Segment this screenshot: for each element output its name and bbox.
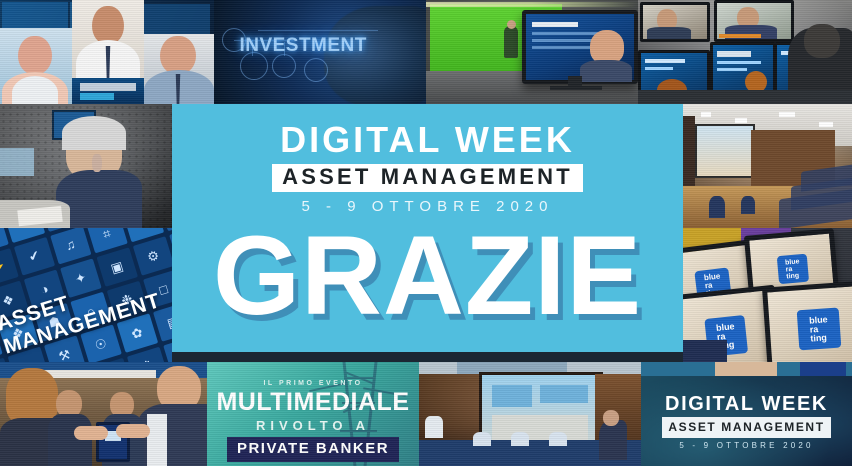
tile-overlay-lower-third	[72, 78, 144, 104]
collage-canvas: Three-person video conference grid with …	[0, 0, 852, 466]
tile-asset-management-icons: ■▲●✉⚙☁★◆⚡✔♫⌗⚐⌘✂❖◑✦▣⚙▶✻❖☗○❉□✵✠◉⚒☉✿▤❀■▲●✉⚙…	[0, 228, 172, 362]
tile-auditorium	[683, 104, 852, 228]
tile-video-call-grid: Three-person video conference grid with …	[0, 0, 214, 104]
event-logo-lockup: DIGITAL WEEK ASSET MANAGEMENT 5 - 9 OTTO…	[172, 122, 683, 214]
tile-studio-speaker	[0, 104, 172, 228]
overlay-line-private-banker: PRIVATE BANKER	[237, 440, 389, 457]
tile-award-ceremony	[0, 362, 207, 466]
logo-line-dates: 5 - 9 OTTOBRE 2020	[172, 199, 683, 214]
overlay-line-rivolto-a: RIVOLTO A	[207, 419, 419, 432]
tile-green-screen-studio	[426, 0, 638, 104]
tile-multimediale-promo: IL PRIMO EVENTO MULTIMEDIALE RIVOLTO A P…	[207, 362, 419, 466]
tile-digital-week-dark: DIGITAL WEEK ASSET MANAGEMENT 5 - 9 OTTO…	[641, 362, 852, 466]
asset-icon-cell: ✔	[14, 237, 55, 276]
overlay-line-primo-evento: IL PRIMO EVENTO	[207, 380, 419, 387]
tile-control-room	[638, 0, 852, 104]
logo-line-digital-week: DIGITAL WEEK	[172, 122, 683, 158]
dark-tile-logo-line2: ASSET MANAGEMENT	[668, 420, 824, 434]
overlay-line-multimediale: MULTIMEDIALE	[207, 390, 419, 415]
tile-conference-hall	[419, 362, 641, 466]
asset-icon-cell: ♫	[50, 228, 91, 265]
page-title-grazie: GRAZIE	[172, 220, 683, 332]
tile-overlay-investment: INVESTMENT	[239, 35, 366, 57]
logo-line-asset-management: ASSET MANAGEMENT	[282, 164, 573, 189]
dark-tile-logo-line3: 5 - 9 OTTOBRE 2020	[641, 442, 852, 450]
logo-line-asset-management-bar: ASSET MANAGEMENT	[272, 164, 583, 192]
tile-investment-tech: INVESTMENT	[214, 0, 426, 104]
tile-blue-rating-packs: bluerating bluerating bluerating bluerat…	[683, 228, 852, 362]
dark-tile-logo-line1: DIGITAL WEEK	[641, 394, 852, 414]
grazie-thank-you-panel: DIGITAL WEEK ASSET MANAGEMENT 5 - 9 OTTO…	[172, 104, 683, 352]
